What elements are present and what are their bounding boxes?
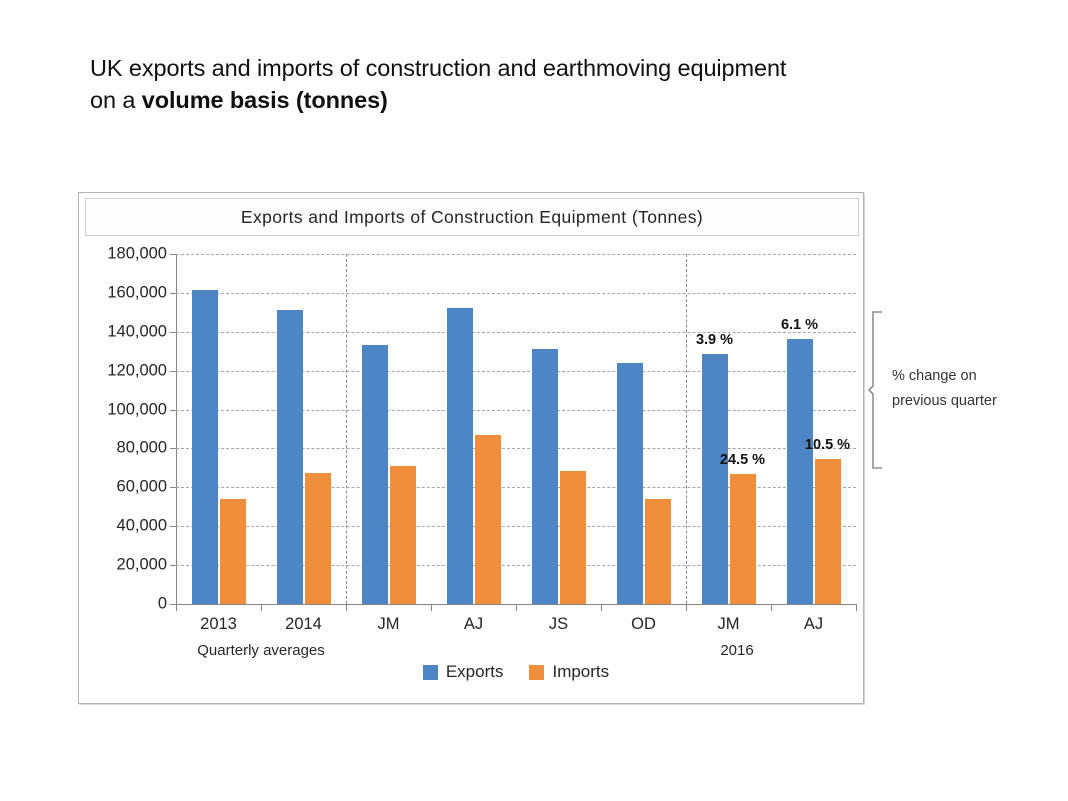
y-axis-label: 100,000 bbox=[107, 400, 167, 419]
x-axis-tick bbox=[686, 604, 687, 611]
y-axis-tick bbox=[170, 371, 176, 372]
bar-exports-js-4 bbox=[532, 349, 558, 604]
legend-item-imports[interactable]: Imports bbox=[529, 662, 609, 682]
bar-exports-aj-7 bbox=[787, 339, 813, 604]
legend-item-exports[interactable]: Exports bbox=[423, 662, 504, 682]
x-axis-label-3: AJ bbox=[464, 615, 483, 634]
x-axis-label-1: 2014 bbox=[285, 615, 322, 634]
y-axis-label: 40,000 bbox=[117, 517, 167, 536]
gridline bbox=[176, 293, 856, 294]
x-axis-label-6: JM bbox=[718, 615, 740, 634]
x-axis-label-4: JS bbox=[549, 615, 568, 634]
bar-imports-od-5 bbox=[645, 499, 671, 604]
percent-change-label-line2: previous quarter bbox=[892, 389, 1042, 414]
y-axis-tick bbox=[170, 410, 176, 411]
bar-imports-jm-6 bbox=[730, 474, 756, 604]
chart-legend: ExportsImports bbox=[176, 662, 856, 682]
x-axis-tick bbox=[856, 604, 857, 611]
chart-frame: Exports and Imports of Construction Equi… bbox=[78, 192, 864, 704]
gridline bbox=[176, 254, 856, 255]
x-axis-tick bbox=[346, 604, 347, 611]
bar-exports-2014-1 bbox=[277, 310, 303, 604]
slide-heading-line2-prefix: on a bbox=[90, 87, 142, 113]
bar-percent-annotation: 3.9 % bbox=[696, 332, 733, 348]
bar-imports-jm-2 bbox=[390, 466, 416, 604]
legend-swatch-icon bbox=[529, 665, 544, 680]
category-separator bbox=[686, 254, 687, 604]
bar-imports-2013-0 bbox=[220, 499, 246, 604]
curly-brace-icon bbox=[868, 310, 886, 470]
y-axis-tick bbox=[170, 565, 176, 566]
bar-exports-jm-2 bbox=[362, 345, 388, 604]
y-axis-label: 80,000 bbox=[117, 439, 167, 458]
percent-change-annotation: % change on previous quarter bbox=[868, 310, 1048, 470]
y-axis-tick bbox=[170, 526, 176, 527]
y-axis-tick bbox=[170, 448, 176, 449]
percent-change-label-line1: % change on bbox=[892, 364, 1042, 389]
bar-imports-js-4 bbox=[560, 471, 586, 604]
sub-caption-0: Quarterly averages bbox=[197, 642, 325, 659]
bar-exports-od-5 bbox=[617, 363, 643, 604]
x-axis-tick bbox=[601, 604, 602, 611]
bar-exports-2013-0 bbox=[192, 290, 218, 604]
y-axis-line bbox=[176, 254, 177, 604]
percent-change-label: % change on previous quarter bbox=[892, 364, 1042, 414]
y-axis-label: 20,000 bbox=[117, 556, 167, 575]
y-axis-tick bbox=[170, 254, 176, 255]
x-axis-tick bbox=[516, 604, 517, 611]
sub-caption-1: 2016 bbox=[720, 642, 753, 659]
bar-imports-aj-3 bbox=[475, 435, 501, 604]
plot-area: 020,00040,00060,00080,000100,000120,0001… bbox=[176, 254, 856, 604]
x-axis-label-2: JM bbox=[378, 615, 400, 634]
x-axis-label-5: OD bbox=[631, 615, 656, 634]
bar-exports-jm-6 bbox=[702, 354, 728, 604]
slide-heading-line2-bold: volume basis (tonnes) bbox=[142, 87, 388, 113]
bar-imports-aj-7 bbox=[815, 459, 841, 604]
y-axis-tick bbox=[170, 293, 176, 294]
slide-heading: UK exports and imports of construction a… bbox=[90, 52, 950, 116]
legend-label: Imports bbox=[552, 662, 609, 682]
bar-imports-2014-1 bbox=[305, 473, 331, 604]
x-axis-tick bbox=[431, 604, 432, 611]
y-axis-label: 140,000 bbox=[107, 322, 167, 341]
x-axis-tick bbox=[176, 604, 177, 611]
bar-exports-aj-3 bbox=[447, 308, 473, 604]
chart-title-box: Exports and Imports of Construction Equi… bbox=[85, 198, 859, 236]
x-axis-label-7: AJ bbox=[804, 615, 823, 634]
slide-heading-line1: UK exports and imports of construction a… bbox=[90, 55, 786, 81]
y-axis-tick bbox=[170, 332, 176, 333]
y-axis-tick bbox=[170, 487, 176, 488]
x-axis-label-0: 2013 bbox=[200, 615, 237, 634]
y-axis-label: 60,000 bbox=[117, 478, 167, 497]
legend-label: Exports bbox=[446, 662, 504, 682]
y-axis-label: 0 bbox=[158, 595, 167, 614]
x-axis-tick bbox=[261, 604, 262, 611]
chart-title: Exports and Imports of Construction Equi… bbox=[241, 207, 703, 228]
bar-percent-annotation: 10.5 % bbox=[805, 437, 850, 453]
x-axis-tick bbox=[771, 604, 772, 611]
bar-percent-annotation: 24.5 % bbox=[720, 452, 765, 468]
category-separator bbox=[346, 254, 347, 604]
y-axis-label: 160,000 bbox=[107, 283, 167, 302]
bar-percent-annotation: 6.1 % bbox=[781, 317, 818, 333]
y-axis-label: 180,000 bbox=[107, 245, 167, 264]
legend-swatch-icon bbox=[423, 665, 438, 680]
y-axis-label: 120,000 bbox=[107, 361, 167, 380]
